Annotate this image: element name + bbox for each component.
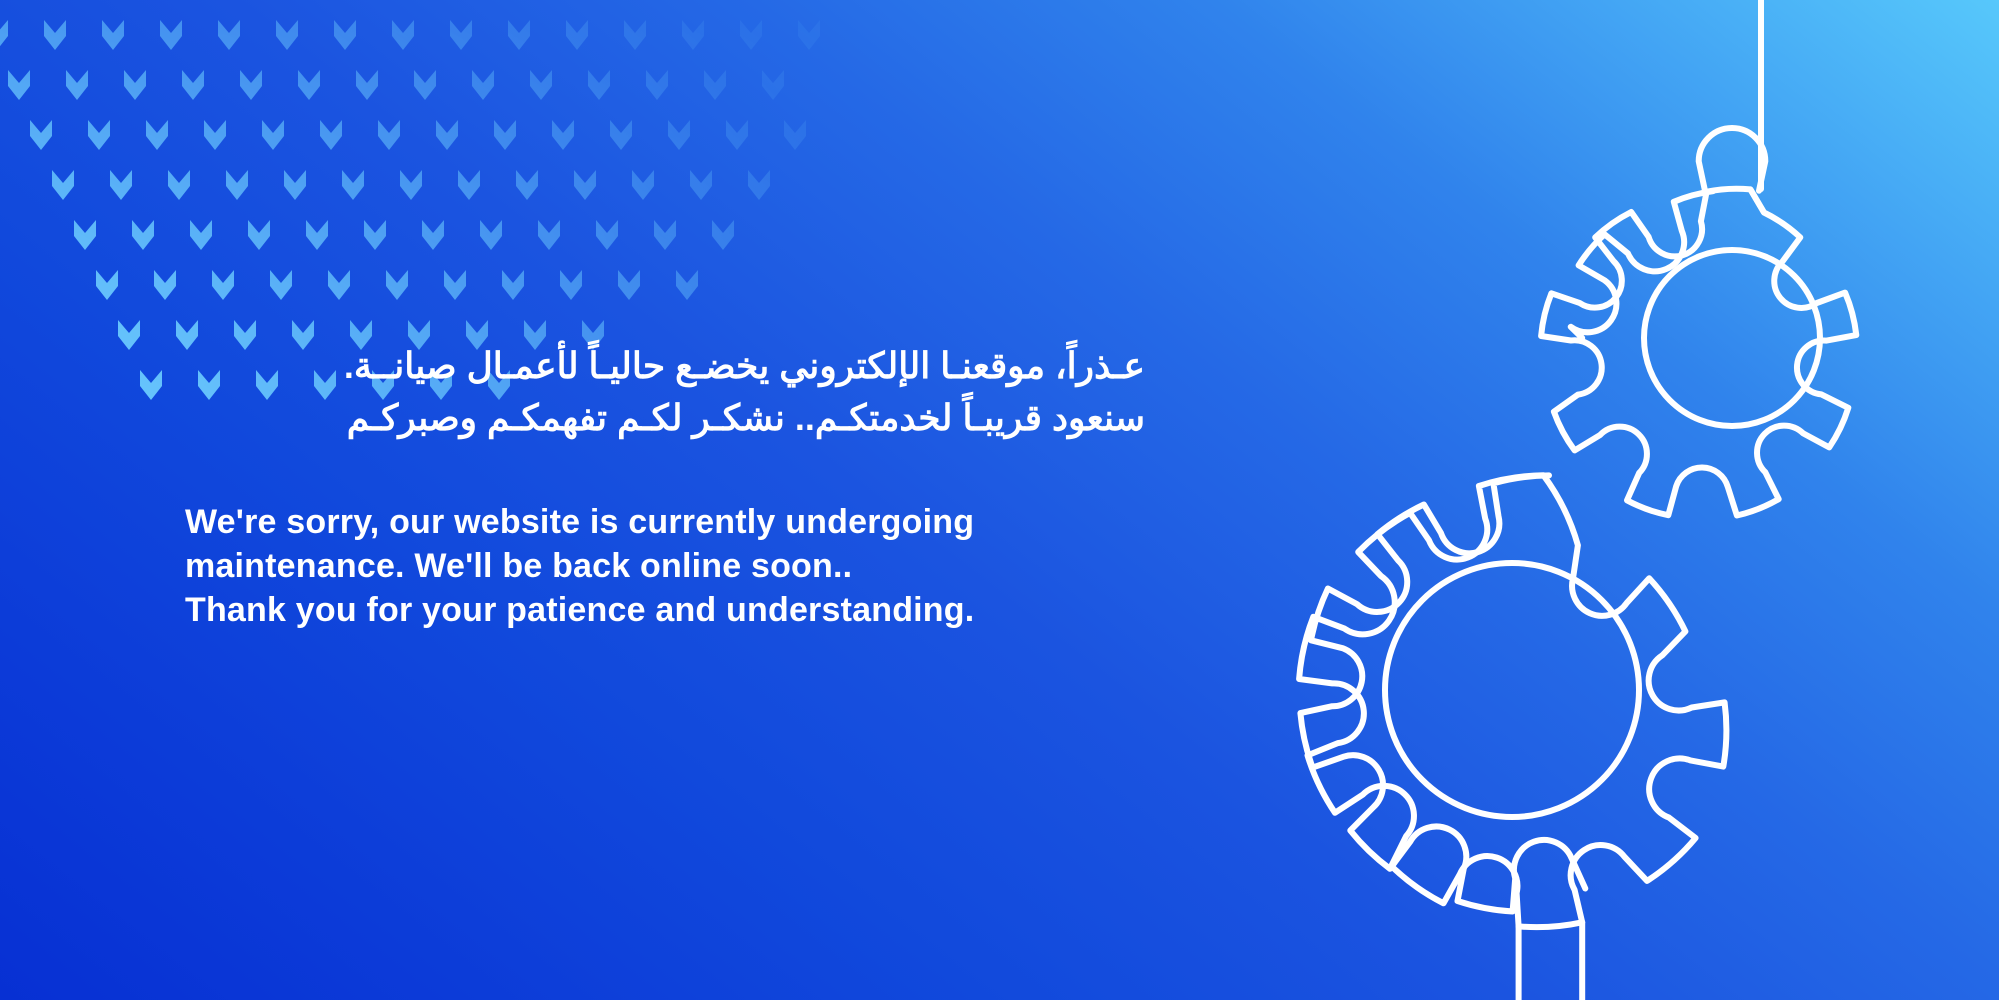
english-message: We're sorry, our website is currently un… [185, 500, 1145, 632]
small-gear-hub [1644, 250, 1820, 426]
large-gear [1299, 475, 1726, 1000]
english-line-1: We're sorry, our website is currently un… [185, 500, 1145, 544]
maintenance-page: عـذراً، موقعنـا الإلكتروني يخضـع حاليـاً… [0, 0, 1999, 1000]
arabic-message: عـذراً، موقعنـا الإلكتروني يخضـع حاليـاً… [185, 340, 1145, 444]
maintenance-message: عـذراً، موقعنـا الإلكتروني يخضـع حاليـاً… [185, 340, 1145, 632]
english-line-2: maintenance. We'll be back online soon.. [185, 544, 1145, 588]
large-gear-hub [1385, 563, 1639, 817]
gear-illustration [1139, 0, 1999, 1000]
small-gear [1541, 0, 1856, 516]
arabic-line-2: سنعود قريبـاً لخدمتكـم.. نشكـر لكـم تفهم… [185, 392, 1145, 444]
english-line-3: Thank you for your patience and understa… [185, 588, 1145, 632]
arabic-line-1: عـذراً، موقعنـا الإلكتروني يخضـع حاليـاً… [185, 340, 1145, 392]
